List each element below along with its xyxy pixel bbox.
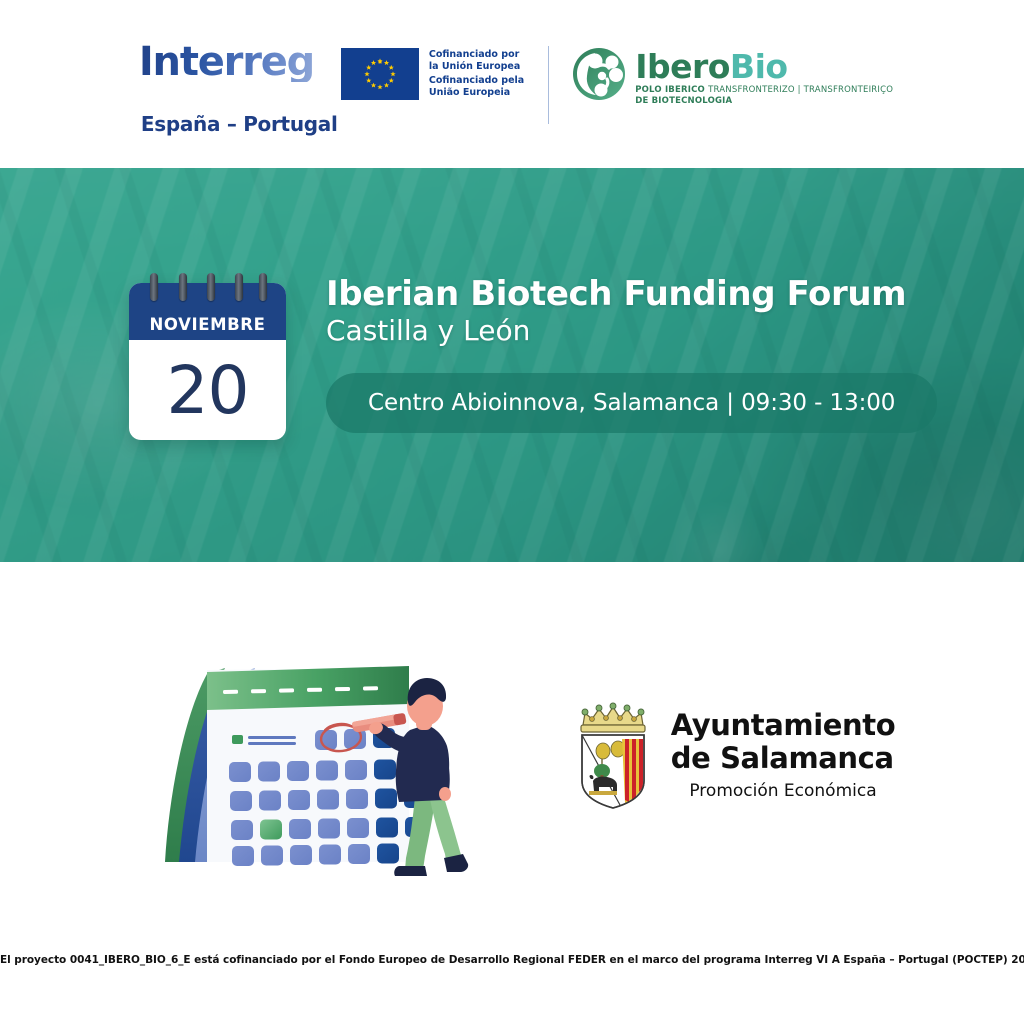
iberobio-tagline-light: TRANSFRONTERIZO | TRANSFRONTEIRIÇO [708, 85, 893, 95]
logo-group: Interreg España – Portugal [131, 42, 893, 136]
eu-cofinancing-text: Cofinanciado por la Unión Europea Cofina… [429, 48, 524, 100]
interreg-logo: Interreg España – Portugal [131, 42, 331, 136]
event-region-subtitle: Castilla y León [326, 315, 966, 347]
hero-text-block: Iberian Biotech Funding Forum Castilla y… [326, 276, 966, 433]
interreg-wordmark: Interreg [131, 42, 314, 82]
calendar-month-label: NOVIEMBRE [150, 315, 266, 334]
interreg-program-label: España – Portugal [131, 112, 338, 136]
calendar-day-number: 20 [129, 340, 286, 440]
eu-text-line-3: Cofinanciado pela [429, 75, 524, 87]
calendar-ring [259, 273, 267, 301]
iberobio-logo: IberoBio POLO IBERICO TRANSFRONTERIZO | … [571, 46, 893, 108]
iberobio-mark-icon [571, 46, 627, 102]
iberobio-tagline-bold: POLO IBERICO [635, 85, 708, 95]
iberobio-wordmark: IberoBio [635, 50, 893, 83]
venue-time-text: Centro Abioinnova, Salamanca | 09:30 - 1… [368, 390, 895, 416]
iberobio-word-bio: Bio [730, 47, 788, 86]
event-title: Iberian Biotech Funding Forum [326, 276, 966, 313]
sponsor-logo-bar: Interreg España – Portugal [0, 0, 1024, 168]
logo-divider [548, 46, 549, 124]
calendar-ring [150, 273, 158, 301]
footer-disclaimer: El proyecto 0041_IBERO_BIO_6_E está cofi… [0, 950, 1024, 968]
ayuntamiento-text-block: Ayuntamiento de Salamanca Promoción Econ… [671, 709, 896, 801]
calendar-ring [235, 273, 243, 301]
middle-section: Ayuntamiento de Salamanca Promoción Econ… [0, 578, 1024, 928]
hero-content: NOVIEMBRE 20 Iberian Biotech Funding For… [0, 168, 1024, 562]
footer-disclaimer-text: El proyecto 0041_IBERO_BIO_6_E está cofi… [0, 954, 1024, 966]
hero-banner: NOVIEMBRE 20 Iberian Biotech Funding For… [0, 168, 1024, 562]
venue-time-pill: Centro Abioinnova, Salamanca | 09:30 - 1… [326, 373, 937, 433]
eu-text-line-1: Cofinanciado por [429, 49, 524, 61]
ayuntamiento-line-1: Ayuntamiento [671, 709, 896, 741]
iberobio-word-ibero: Ibero [635, 47, 730, 86]
calendar-ring [179, 273, 187, 301]
calendar-ring [207, 273, 215, 301]
calendar-rings [129, 273, 286, 303]
eu-flag-icon [341, 48, 419, 100]
iberobio-tagline-line-2: DE BIOTECNOLOGIA [635, 96, 893, 107]
calendar-date-icon: NOVIEMBRE 20 [129, 283, 286, 440]
ayuntamiento-line-2: de Salamanca [671, 742, 896, 774]
poster-root: Interreg España – Portugal [0, 0, 1024, 1024]
eu-text-line-2: la Unión Europea [429, 61, 524, 73]
ayuntamiento-salamanca-logo: Ayuntamiento de Salamanca Promoción Econ… [569, 699, 896, 811]
iberobio-tagline-line-1: POLO IBERICO TRANSFRONTERIZO | TRANSFRON… [635, 85, 893, 96]
eu-text-line-4: União Europeia [429, 87, 524, 99]
salamanca-coat-of-arms-icon [569, 699, 657, 811]
ayuntamiento-line-3: Promoción Económica [671, 781, 896, 801]
eu-emblem: Cofinanciado por la Unión Europea Cofina… [341, 48, 524, 100]
iberobio-text-block: IberoBio POLO IBERICO TRANSFRONTERIZO | … [635, 46, 893, 108]
calendar-planning-illustration [129, 618, 489, 888]
